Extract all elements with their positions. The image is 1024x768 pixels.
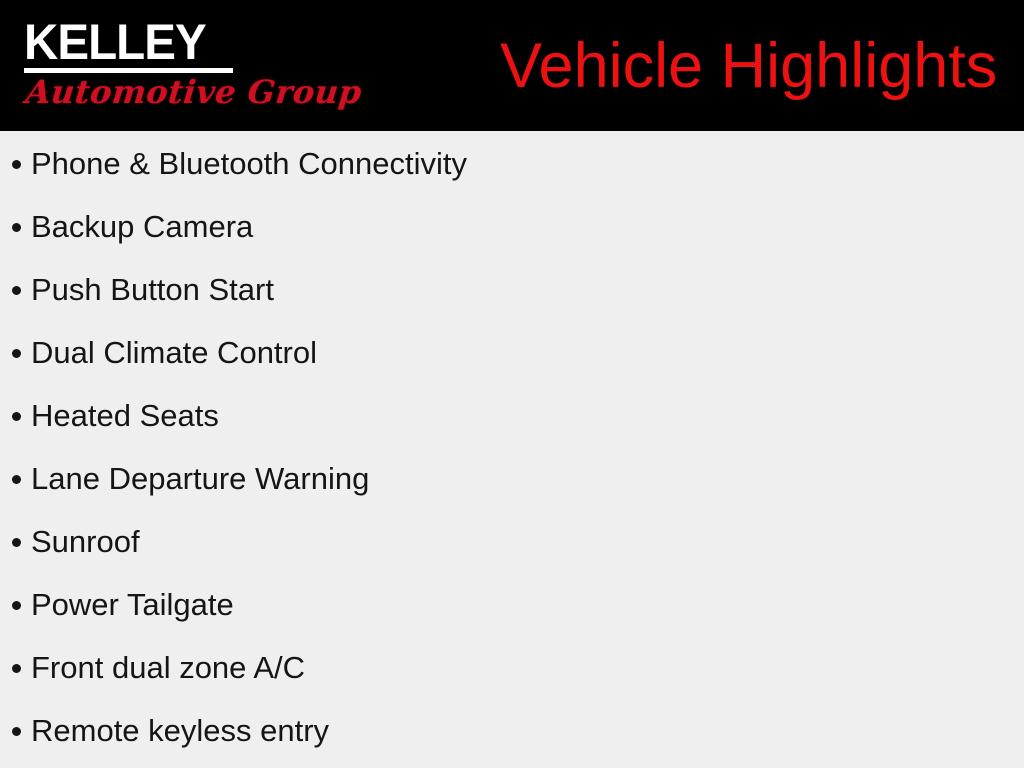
list-item: Remote keyless entry (0, 699, 1024, 762)
dot-bullet-icon (12, 601, 21, 610)
list-item: Push Button Start (0, 258, 1024, 321)
list-item-label: Dual Climate Control (31, 335, 317, 370)
list-item: Sunroof (0, 510, 1024, 573)
list-item: Backup Camera (0, 195, 1024, 258)
list-item: Lane Departure Warning (0, 447, 1024, 510)
list-item-label: Front dual zone A/C (31, 650, 305, 685)
logo-tagline-text: Automotive Group (24, 71, 242, 113)
list-item: Front dual zone A/C (0, 636, 1024, 699)
dot-bullet-icon (12, 664, 21, 673)
dot-bullet-icon (12, 412, 21, 421)
list-item-label: Backup Camera (31, 209, 253, 244)
vehicle-highlights-list: Phone & Bluetooth Connectivity Backup Ca… (0, 131, 1024, 768)
list-item: Phone & Bluetooth Connectivity (0, 132, 1024, 195)
page-title: Vehicle Highlights (500, 28, 985, 104)
list-item: Heated Seats (0, 384, 1024, 447)
list-item: Power Tailgate (0, 573, 1024, 636)
dot-bullet-icon (12, 538, 21, 547)
list-item: Dual Climate Control (0, 321, 1024, 384)
kelley-automotive-group-logo: KELLEY Automotive Group (24, 18, 239, 114)
list-item-label: Phone & Bluetooth Connectivity (31, 146, 467, 181)
list-item-label: Power Tailgate (31, 587, 234, 622)
dot-bullet-icon (12, 349, 21, 358)
dot-bullet-icon (12, 160, 21, 169)
list-item-label: Sunroof (31, 524, 140, 559)
dot-bullet-icon (12, 727, 21, 736)
vehicle-highlights-slide: KELLEY Automotive Group Vehicle Highligh… (0, 0, 1024, 768)
list-item-label: Lane Departure Warning (31, 461, 369, 496)
list-item-label: Heated Seats (31, 398, 219, 433)
list-item-label: Push Button Start (31, 272, 274, 307)
dot-bullet-icon (12, 475, 21, 484)
list-item-label: Remote keyless entry (31, 713, 329, 748)
logo-wordmark-text: KELLEY (24, 18, 224, 66)
slide-header-bar: KELLEY Automotive Group Vehicle Highligh… (0, 0, 1024, 131)
dot-bullet-icon (12, 223, 21, 232)
dot-bullet-icon (12, 286, 21, 295)
